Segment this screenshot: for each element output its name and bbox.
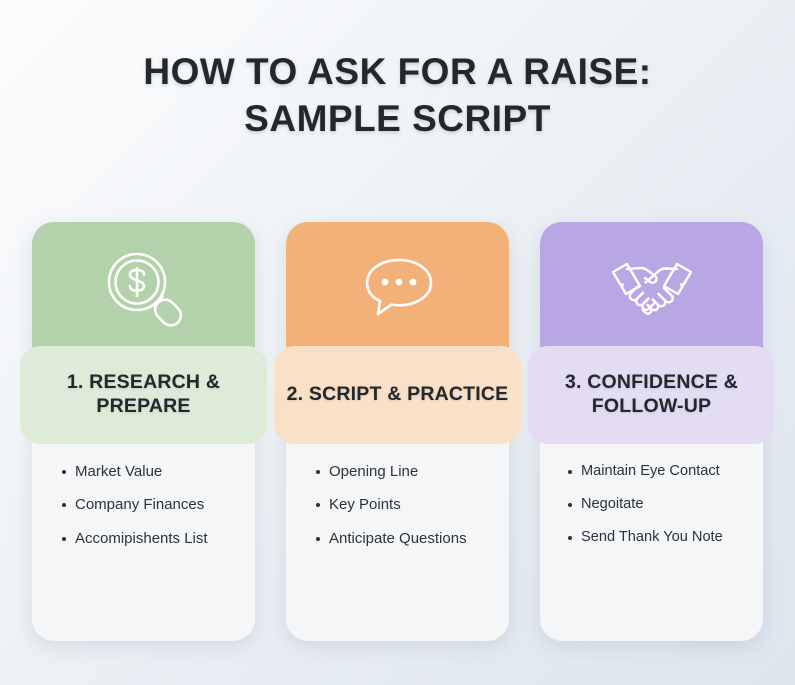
list-item: Anticipate Questions bbox=[316, 529, 495, 549]
card-title-2: 2. SCRIPT & PRACTICE bbox=[287, 383, 509, 407]
card-title-band-3: 3. CONFIDENCE & FOLLOW-UP bbox=[528, 346, 775, 444]
page-title: HOW TO ASK FOR A RAISE: SAMPLE SCRIPT bbox=[0, 48, 795, 143]
step-card-research-prepare: 1. RESEARCH & PREPARE Market Value Compa… bbox=[32, 222, 255, 641]
steps-card-row: 1. RESEARCH & PREPARE Market Value Compa… bbox=[0, 222, 795, 642]
magnifying-glass-dollar-icon bbox=[96, 246, 192, 334]
card-bullet-list-3: Maintain Eye Contact Negoitate Send Than… bbox=[540, 462, 763, 561]
page-title-line-1: HOW TO ASK FOR A RAISE: bbox=[0, 48, 795, 95]
step-card-script-practice: 2. SCRIPT & PRACTICE Opening Line Key Po… bbox=[286, 222, 509, 641]
speech-bubbles-icon bbox=[350, 246, 446, 334]
card-bullet-list-2: Opening Line Key Points Anticipate Quest… bbox=[286, 462, 509, 562]
list-item: Company Finances bbox=[62, 495, 241, 515]
page-title-line-2: SAMPLE SCRIPT bbox=[0, 95, 795, 142]
list-item: Maintain Eye Contact bbox=[568, 462, 749, 482]
list-item: Opening Line bbox=[316, 462, 495, 482]
list-item: Key Points bbox=[316, 495, 495, 515]
list-item: Market Value bbox=[62, 462, 241, 482]
list-item: Send Thank You Note bbox=[568, 528, 749, 548]
card-title-1: 1. RESEARCH & PREPARE bbox=[30, 371, 257, 419]
list-item: Negoitate bbox=[568, 495, 749, 515]
step-card-confidence-followup: 3. CONFIDENCE & FOLLOW-UP Maintain Eye C… bbox=[540, 222, 763, 641]
card-title-band-1: 1. RESEARCH & PREPARE bbox=[20, 346, 267, 444]
card-bullet-list-1: Market Value Company Finances Accomipish… bbox=[32, 462, 255, 562]
handshake-icon bbox=[604, 246, 700, 334]
card-title-band-2: 2. SCRIPT & PRACTICE bbox=[274, 346, 521, 444]
card-title-3: 3. CONFIDENCE & FOLLOW-UP bbox=[538, 371, 765, 419]
list-item: Accomipishents List bbox=[62, 529, 241, 549]
